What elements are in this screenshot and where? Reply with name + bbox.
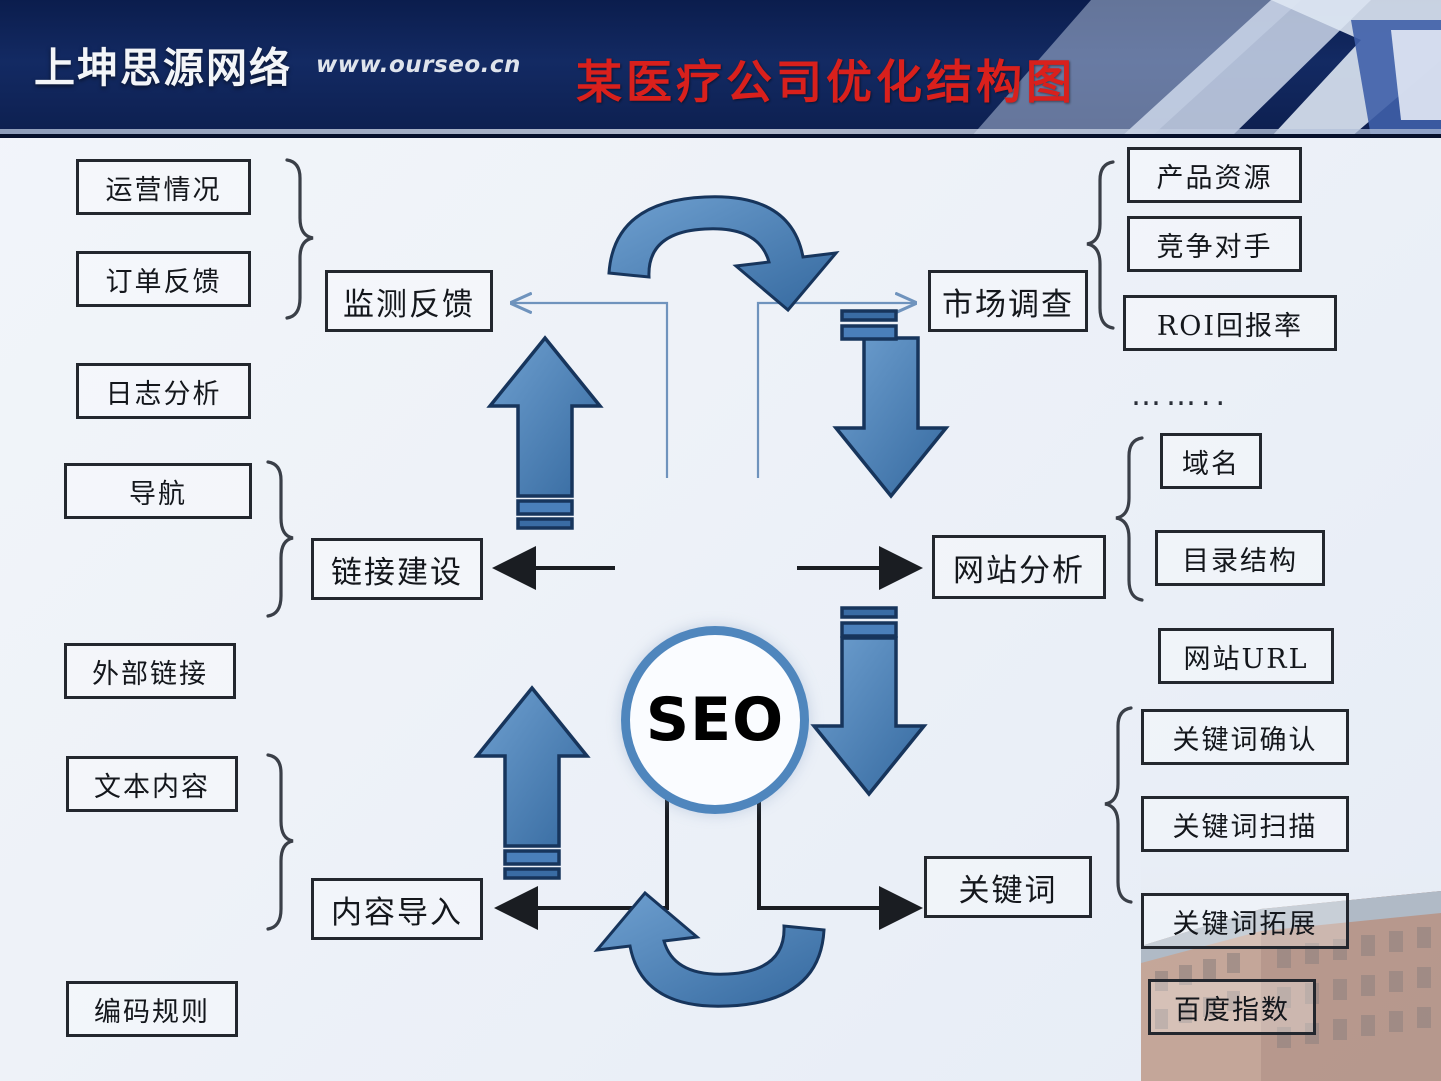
leaf-box[interactable]: 外部链接 [64,643,236,699]
logo-url-text: www.ourseo.cn [316,52,521,78]
leaf-box[interactable]: 目录结构 [1155,530,1325,586]
curved-arrow-top [609,197,836,310]
hub-box-link[interactable]: 链接建设 [311,538,483,600]
seo-label: SEO [646,685,784,755]
leaf-box[interactable]: 运营情况 [76,159,251,215]
leaf-box[interactable]: 关键词扫描 [1141,796,1349,852]
leaf-box[interactable]: 竞争对手 [1127,216,1302,272]
leaf-box[interactable]: 关键词拓展 [1141,893,1349,949]
leaf-box[interactable]: 产品资源 [1127,147,1302,203]
diagram-canvas: 运营情况 订单反馈 日志分析 导航 外部链接 文本内容 编码规则 监测反馈 链接… [0,138,1441,1081]
logo-text: 上坤思源网络 [34,34,292,94]
page-title: 某医疗公司优化结构图 [576,46,1076,112]
hub-box-monitor[interactable]: 监测反馈 [325,270,493,332]
leaf-box[interactable]: 域名 [1160,433,1262,489]
leaf-box[interactable]: 导航 [64,463,252,519]
slide: 上坤思源网络 www.ourseo.cn 某医疗公司优化结构图 [0,0,1441,1081]
leaf-box[interactable]: ROI回报率 [1123,295,1337,351]
block-arrow-up-left [490,338,600,528]
block-arrow-down-right [836,311,946,496]
curved-arrow-bottom [597,893,824,1006]
hub-box-keyword[interactable]: 关键词 [924,856,1092,918]
slide-header: 上坤思源网络 www.ourseo.cn 某医疗公司优化结构图 [0,0,1441,137]
leaf-box[interactable]: 文本内容 [66,756,238,812]
leaf-box[interactable]: 百度指数 [1148,979,1316,1035]
leaf-box[interactable]: 关键词确认 [1141,709,1349,765]
building-photo-watermark [1141,851,1441,1081]
block-arrow-down-lower-right [814,608,924,794]
hub-box-site[interactable]: 网站分析 [932,535,1106,599]
seo-center-node[interactable]: SEO [621,626,809,814]
leaf-box[interactable]: 网站URL [1158,628,1334,684]
hub-box-content[interactable]: 内容导入 [311,878,483,940]
leaf-box[interactable]: 日志分析 [76,363,251,419]
leaf-box[interactable]: 编码规则 [66,981,238,1037]
hub-box-market[interactable]: 市场调查 [928,270,1088,332]
leaf-box[interactable]: 订单反馈 [76,251,251,307]
block-arrow-up-lower-left [477,688,587,878]
ellipsis-label: …….. [1131,378,1230,413]
